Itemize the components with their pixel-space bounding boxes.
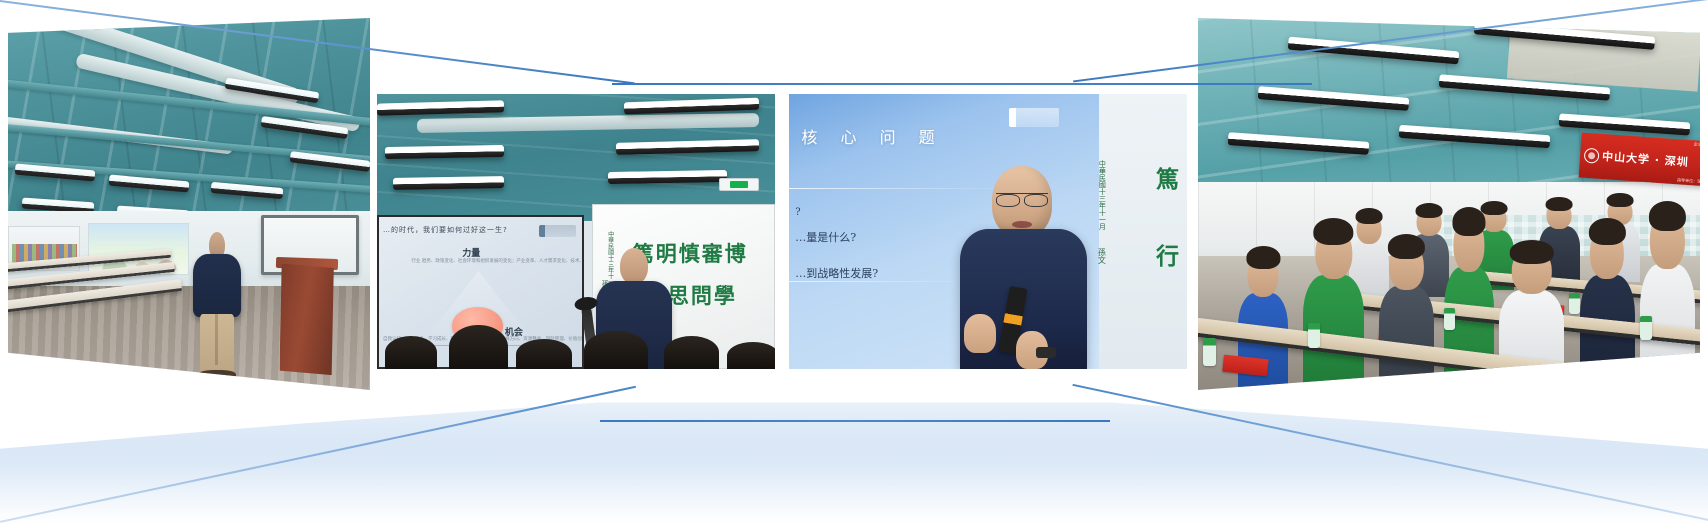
photo-audience[interactable]: 中山大学 · 深圳 企业家班 指导单位：深圳 — [1198, 18, 1700, 390]
photo-classroom-wide[interactable] — [8, 18, 370, 390]
university-banner: 中山大学 · 深圳 企业家班 指导单位：深圳 — [1578, 133, 1700, 187]
ceiling-light — [608, 170, 728, 184]
slide-title: …的时代，我们要如何过好这一生? — [383, 225, 541, 242]
university-seal-icon — [1583, 148, 1599, 164]
accent-line-bottom-right — [1072, 384, 1708, 523]
calligraphy-vertical-left: 孫文 — [1096, 248, 1107, 264]
slide-logo-icon — [539, 225, 576, 237]
slide-keyword-top: 力量 — [462, 246, 480, 259]
water-bottle — [1569, 293, 1579, 314]
accent-line-bottom-mid — [600, 420, 1110, 422]
instructor-torso — [193, 254, 242, 317]
exit-sign-icon — [719, 178, 759, 191]
wooden-podium — [280, 264, 334, 376]
water-bottle — [1640, 316, 1652, 341]
photo-speaker-closeup[interactable]: 核 心 问 题 ? …量是什么? …到战略性发展? 中華民國十三年十一月 孫文 … — [789, 94, 1187, 369]
audience-head — [727, 342, 775, 370]
ceiling-light — [385, 145, 505, 159]
slide-subtitle-top: 行业 趋势、政策变化、社会环境和组织发展的变化；产业变革、人才需求变化、技术、产… — [411, 259, 583, 266]
speaker-mouth — [1012, 221, 1032, 228]
calligraphy-vertical-right: 中華民國十三年十一月 — [1097, 160, 1107, 230]
audience-head — [664, 336, 720, 369]
instructor-shoes — [198, 370, 236, 381]
bottom-wedge-highlight — [0, 395, 1708, 523]
banner-bottom-text: 指导单位：深圳 — [1676, 177, 1700, 185]
slide-title: 核 心 问 题 — [801, 124, 943, 148]
slide-logo-icon — [1009, 108, 1059, 127]
calligraphy-line-1: 篤 — [1156, 160, 1179, 194]
photo-classroom-wide-content — [8, 18, 370, 390]
slide-divider — [789, 188, 1006, 189]
audience-head — [584, 331, 648, 370]
photo-speaker-closeup-content: 核 心 问 题 ? …量是什么? …到战略性发展? 中華民國十三年十一月 孫文 … — [789, 94, 1187, 369]
speaker-head — [620, 248, 648, 284]
water-bottle — [1444, 308, 1455, 330]
audience-head — [385, 336, 437, 369]
photo-banner-stage: …的时代，我们要如何过好这一生? 力量 行业 趋势、政策变化、社会环境和组织发展… — [0, 0, 1708, 523]
slide-divider — [789, 281, 975, 282]
attendee — [1379, 286, 1434, 390]
speaker-hand-left — [964, 314, 996, 353]
ceiling-light — [393, 176, 505, 189]
calligraphy-wall — [1091, 94, 1187, 369]
audience-head — [449, 325, 509, 369]
accent-line-bottom-left — [0, 386, 636, 523]
eyeglasses-icon — [996, 193, 1048, 205]
calligraphy-line-2: 行 — [1156, 237, 1179, 271]
banner-main-text: 中山大学 · 深圳 — [1601, 148, 1689, 170]
audience-head — [516, 339, 572, 369]
photo-audience-content: 中山大学 · 深圳 企业家班 指导单位：深圳 — [1198, 18, 1700, 390]
calligraphy-line-1: 篤明慎審博 — [633, 238, 748, 268]
attendee — [1499, 290, 1564, 390]
slide-question-0: ? — [795, 207, 800, 218]
slide-question-2: …到战略性发展? — [795, 265, 878, 281]
photo-lecture-slide-content: …的时代，我们要如何过好这一生? 力量 行业 趋势、政策变化、社会环境和组织发展… — [377, 94, 775, 369]
water-bottle — [1308, 323, 1320, 348]
photo-lecture-slide[interactable]: …的时代，我们要如何过好这一生? 力量 行业 趋势、政策变化、社会环境和组织发展… — [377, 94, 775, 369]
banner-top-text: 企业家班 — [1693, 141, 1700, 148]
bottom-gradient-wedge — [0, 395, 1708, 523]
water-bottle — [1203, 338, 1216, 366]
instructor-legs — [200, 314, 234, 374]
wristwatch-icon — [1036, 347, 1056, 358]
slide-question-1: …量是什么? — [795, 229, 856, 245]
